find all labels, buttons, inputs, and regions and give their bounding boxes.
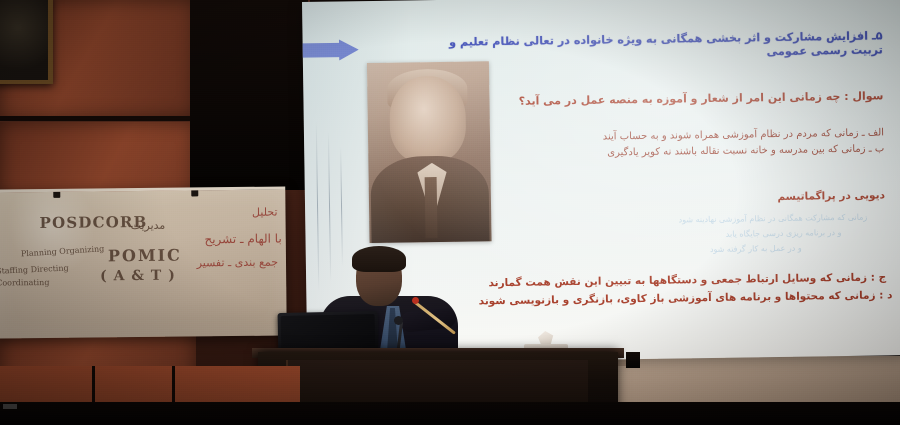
slide-option-a: الف ـ زمانی که مردم در نظام آموزشی همراه… [603,127,884,144]
framed-picture-canvas [0,0,48,80]
whiteboard-note-3: Coordinating [0,278,49,288]
slide-option-d: د : زمانی که محتواها و برنامه های آموزشی… [479,289,893,309]
whiteboard-label-modiriyat: مدیریت [131,219,166,232]
portrait-face [389,76,466,164]
whiteboard-persian-note-2: با الهام ـ تشریح [204,232,281,247]
whiteboard: POSDCORB POMIC ( A & T ) مدیریت Planning… [0,186,287,338]
speaker-glasses [360,270,398,278]
floor-dark-band [0,402,900,425]
wall-dark-column [190,0,308,190]
right-arrow-icon [302,39,359,61]
panel-seam-upper [0,116,196,121]
slide-heading: ۵ـ افزایش مشارکت و اثر بخشی همگانی به وی… [413,29,883,65]
screen-support-post [626,352,640,368]
whiteboard-clip-right [191,189,198,196]
slide-dewey-note: دیویی در پراگماتیسم [777,189,885,204]
slide-faint-text-block: زمانی که مشارکت همگانی در نظام آموزشی نه… [437,210,868,262]
portrait-tie [425,177,438,238]
speaker-hair [352,246,406,272]
laser-pointer-tip [412,297,419,304]
slide-question: سوال : چه زمانی این امر از شعار و آموزه … [519,89,884,108]
framed-picture [0,0,53,84]
whiteboard-acronym-pomic: POMIC [108,246,182,266]
slide-option-c: ج : زمانی که وسایل ارتباط جمعی و دستگاهه… [488,271,886,290]
microphone-head-icon [394,316,403,325]
whiteboard-clip-left [53,191,60,198]
whiteboard-acronym-at: ( A & T ) [100,268,176,285]
screen-sheen-a [316,122,320,292]
whiteboard-persian-note-1: تحلیل [252,206,278,219]
slide-option-b: ب ـ زمانی که بین مدرسه و خانه نسبت نقاله… [607,143,884,160]
photo-corner-speck [3,404,17,409]
lecture-hall-scene: ۵ـ افزایش مشارکت و اثر بخشی همگانی به وی… [0,0,900,425]
whiteboard-persian-note-3: جمع بندی ـ تفسیر [197,256,278,270]
